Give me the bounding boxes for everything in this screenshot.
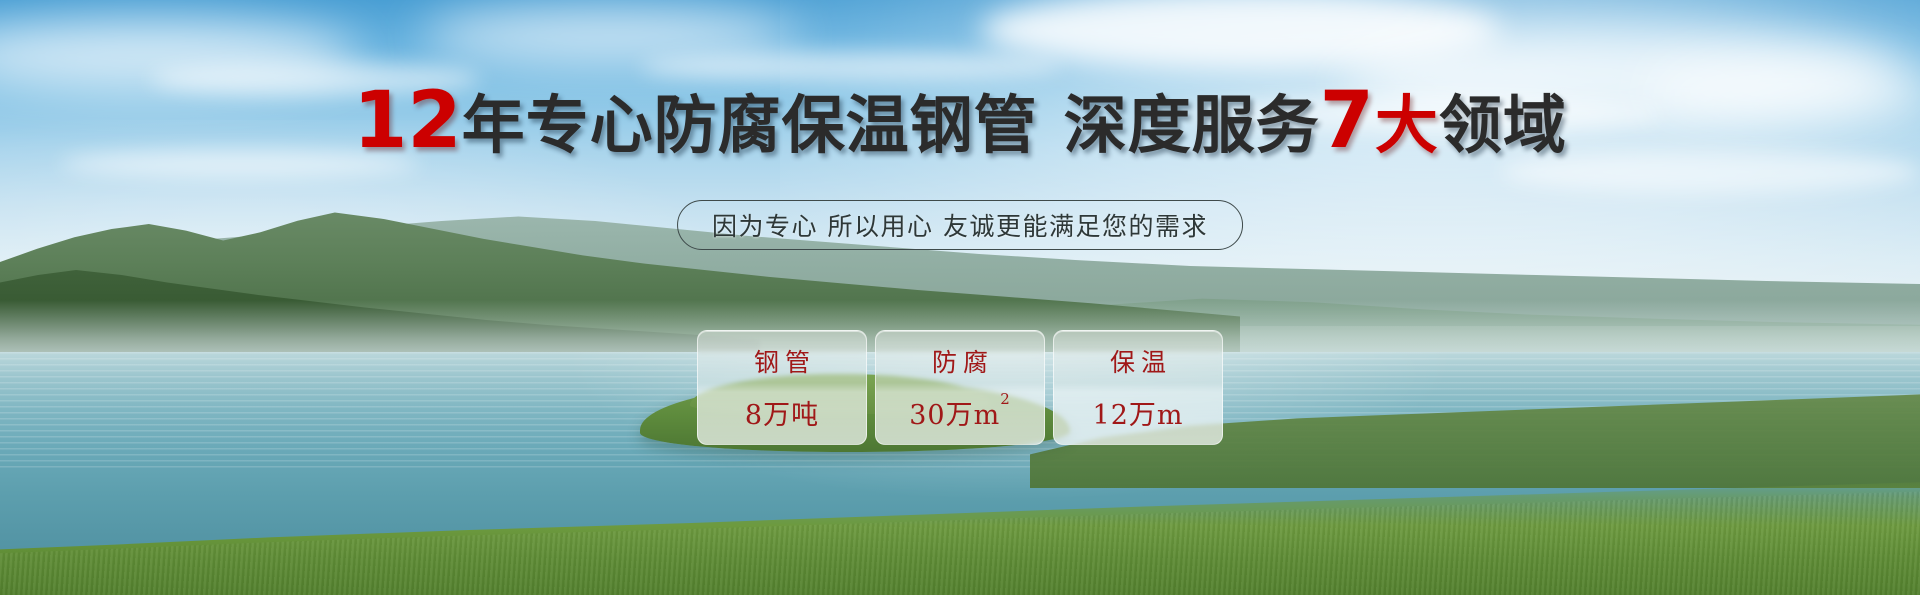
headline-main-segment: 专心防腐保温钢管 bbox=[526, 89, 1038, 162]
stat-card-steel-pipe: 钢管 8万吨 bbox=[697, 330, 867, 445]
stat-card-value-main: 8万吨 bbox=[745, 400, 819, 431]
stat-card-group: 钢管 8万吨 防腐 30万m2 保温 12万m bbox=[697, 330, 1223, 445]
stat-card-insulation: 保温 12万m bbox=[1053, 330, 1223, 445]
headline-tail-segment: 领域 bbox=[1439, 89, 1567, 162]
banner-headline: 12年专心防腐保温钢管深度服务7大领域 bbox=[0, 82, 1920, 160]
stat-card-label: 防腐 bbox=[926, 343, 994, 379]
cloud-icon bbox=[640, 52, 1060, 82]
stat-card-label: 钢管 bbox=[748, 343, 816, 379]
stat-card-value-main: 30万m bbox=[909, 400, 1000, 431]
stat-card-value-main: 12万m bbox=[1093, 400, 1184, 431]
subtitle-text: 因为专心 所以用心 友诚更能满足您的需求 bbox=[712, 207, 1208, 243]
headline-service-segment: 深度服务 bbox=[1064, 89, 1320, 162]
hero-banner: 12年专心防腐保温钢管深度服务7大领域 因为专心 所以用心 友诚更能满足您的需求… bbox=[0, 0, 1920, 595]
stat-card-value-superscript: 2 bbox=[1000, 390, 1011, 408]
headline-years-number: 12 bbox=[353, 76, 462, 166]
stat-card-anticorrosion: 防腐 30万m2 bbox=[875, 330, 1045, 445]
stat-card-value: 8万吨 bbox=[745, 393, 819, 432]
stat-card-label: 保温 bbox=[1104, 343, 1172, 379]
subtitle-pill: 因为专心 所以用心 友诚更能满足您的需求 bbox=[677, 200, 1243, 250]
headline-years-unit: 年 bbox=[462, 89, 526, 162]
headline-domains-suffix: 大 bbox=[1375, 89, 1439, 162]
stat-card-value: 12万m bbox=[1093, 393, 1184, 432]
stat-card-value: 30万m2 bbox=[909, 393, 1011, 432]
headline-domains-number: 7 bbox=[1320, 76, 1375, 166]
